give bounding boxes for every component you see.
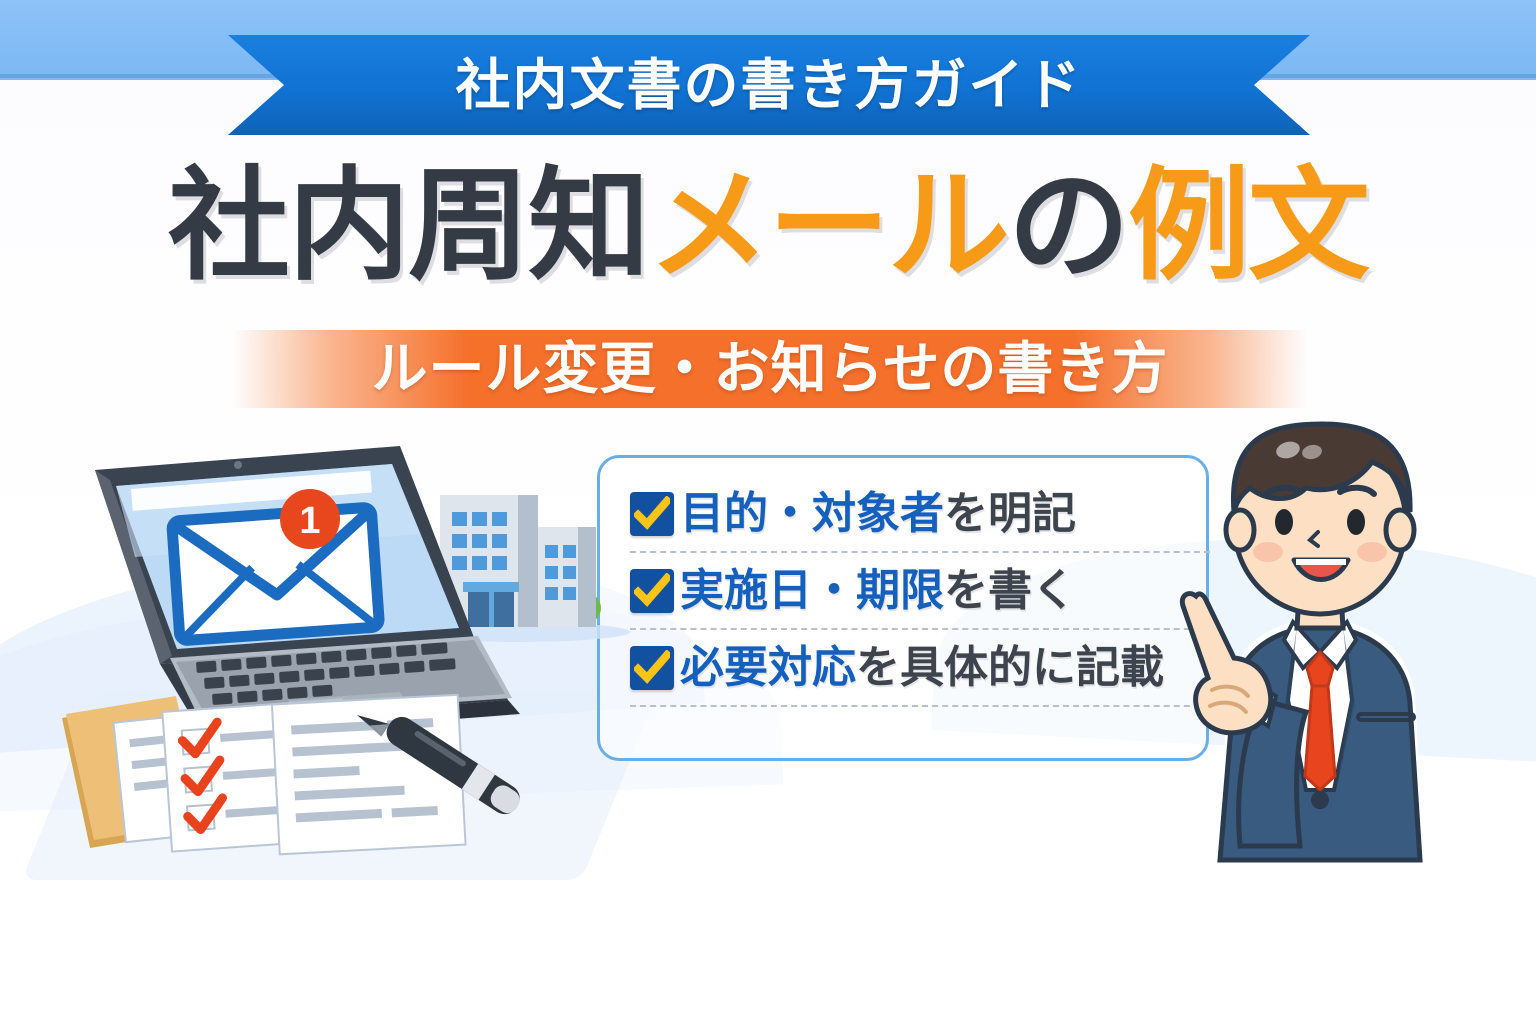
svg-text:1: 1 <box>299 500 320 542</box>
notification-badge: 1 <box>280 489 340 549</box>
illustration-layer: 1 <box>0 0 1536 1024</box>
businessman-pointing <box>1182 424 1425 860</box>
envelope-icon <box>172 507 380 641</box>
infographic-banner: 社内文書の書き方ガイド 社内周知メールの例文 ルール変更・お知らせの書き方 目的… <box>0 0 1536 1024</box>
